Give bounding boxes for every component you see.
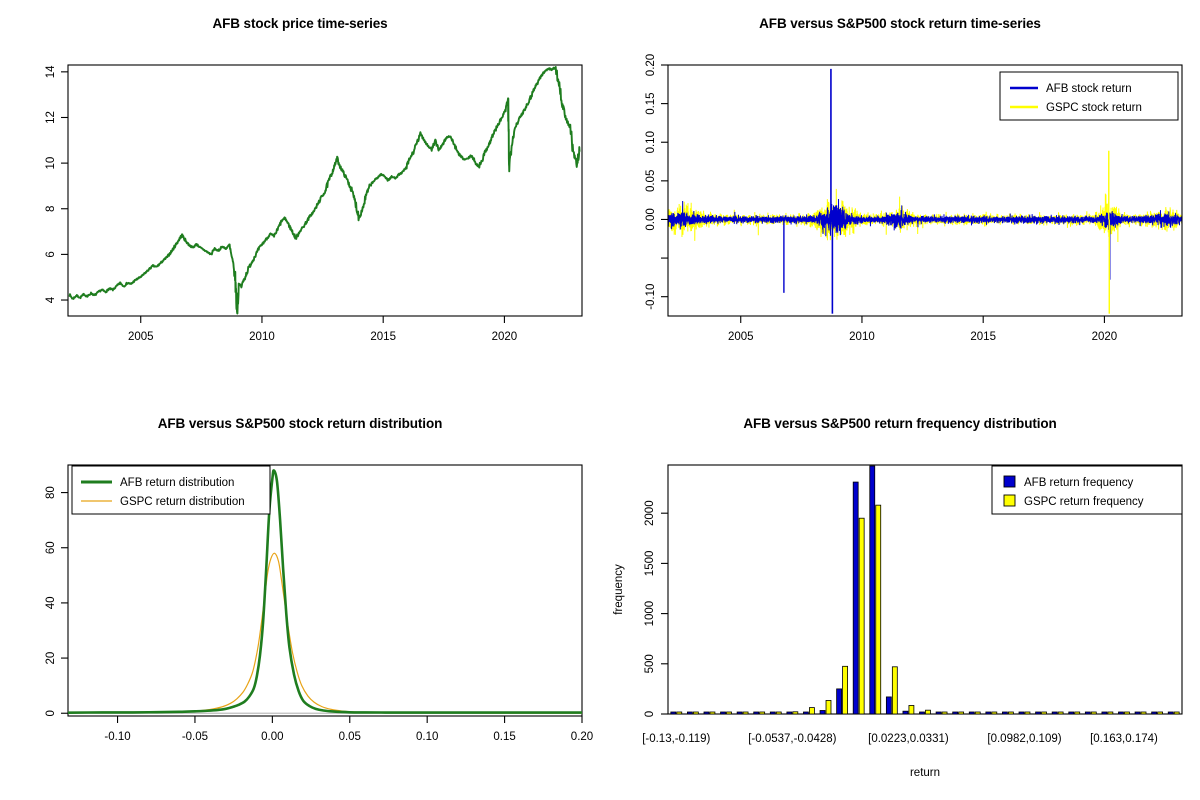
legend-return-distribution: AFB return distributionGSPC return distr… [72, 466, 270, 514]
bar-afb [803, 712, 808, 714]
y-tick-label: 8 [45, 206, 57, 212]
x-tick-label: [0.163,0.174) [1090, 733, 1158, 745]
bar-gspc [710, 712, 715, 714]
x-tick-label: 2005 [128, 331, 154, 343]
x-tick-label: [-0.0537,-0.0428) [748, 733, 836, 745]
y-tick-label: 0.10 [645, 131, 657, 153]
bar-afb [737, 712, 742, 714]
x-tick-label: 2010 [249, 331, 275, 343]
y-tick-label: 6 [45, 251, 57, 257]
bar-afb [820, 710, 825, 714]
x-tick-label: 2010 [849, 331, 875, 343]
bar-gspc [876, 505, 881, 714]
bar-afb [969, 712, 974, 714]
panel-return-distribution: AFB versus S&P500 stock return distribut… [0, 400, 600, 800]
legend-return-timeseries: AFB stock returnGSPC stock return [1000, 72, 1178, 120]
y-tick-label: 0 [644, 711, 656, 717]
bar-gspc [1124, 712, 1129, 714]
y-tick-label: 0.05 [645, 170, 657, 192]
y-tick-label: 40 [45, 597, 57, 610]
legend-label-1: GSPC stock return [1046, 102, 1142, 114]
x-tick-label: [0.0223,0.0331) [868, 733, 949, 745]
bar-afb [1152, 712, 1157, 714]
x-tick-label: 0.20 [571, 731, 593, 743]
bar-gspc [727, 712, 732, 714]
bar-gspc [859, 518, 864, 714]
y-tick-label: 0.20 [645, 54, 657, 76]
bar-gspc [1058, 712, 1063, 714]
x-tick-label: 2015 [370, 331, 396, 343]
bar-gspc [1174, 712, 1179, 714]
legend-label-1: GSPC return distribution [120, 496, 245, 508]
y-tick-label: 4 [45, 296, 57, 303]
gspc-density-curve [68, 553, 582, 713]
y-tick-label: 10 [45, 157, 57, 170]
bar-afb [704, 712, 709, 714]
legend-swatch-1 [1004, 495, 1015, 506]
y-tick-label: -0.10 [645, 284, 657, 310]
legend-label-0: AFB return frequency [1024, 477, 1134, 489]
x-tick-label: [-0.13,-0.119) [642, 733, 710, 745]
y-axis-title: frequency [613, 564, 625, 615]
x-tick-label: -0.05 [182, 731, 208, 743]
x-tick-label: 2020 [1092, 331, 1118, 343]
bar-gspc [942, 712, 947, 714]
bar-afb [1168, 712, 1173, 714]
bar-gspc [1008, 712, 1013, 714]
bar-afb [920, 712, 925, 714]
bar-afb [1002, 712, 1007, 714]
bar-gspc [677, 712, 682, 714]
bar-gspc [1141, 712, 1146, 714]
bar-gspc [892, 667, 897, 714]
y-tick-label: 60 [45, 541, 57, 554]
y-tick-label: 0.15 [645, 92, 657, 114]
legend-label-0: AFB return distribution [120, 477, 234, 489]
return-timeseries-svg: 2005201020152020-0.100.000.050.100.150.2… [600, 0, 1200, 400]
y-tick-label: 14 [45, 65, 57, 78]
legend-label-0: AFB stock return [1046, 83, 1132, 95]
x-tick-label: 2015 [970, 331, 996, 343]
bar-afb [687, 712, 692, 714]
y-tick-label: 80 [45, 486, 57, 499]
x-axis-title: return [910, 767, 940, 779]
price-line-afb [69, 67, 579, 314]
bar-gspc [776, 712, 781, 714]
bar-afb [671, 712, 676, 714]
bar-gspc [693, 712, 698, 714]
bar-gspc [1108, 712, 1113, 714]
x-tick-label: 0.00 [261, 731, 283, 743]
y-tick-label: 20 [45, 652, 57, 665]
bar-afb [787, 712, 792, 714]
bar-afb [1019, 712, 1024, 714]
bar-gspc [760, 712, 765, 714]
afb-price-svg: 2005201020152020468101214 [0, 0, 600, 400]
bar-gspc [959, 712, 964, 714]
bar-afb [1036, 712, 1041, 714]
return-distribution-svg: -0.10-0.050.000.050.100.150.20020406080 … [0, 400, 600, 800]
bar-afb [1085, 712, 1090, 714]
bar-afb [853, 482, 858, 714]
bar-afb [1135, 712, 1140, 714]
legend-swatch-0 [1004, 476, 1015, 487]
panel-afb-stock-price: AFB stock price time-series 200520102015… [0, 0, 600, 400]
y-tick-label: 1500 [644, 551, 656, 577]
bar-gspc [992, 712, 997, 714]
bar-gspc [975, 712, 980, 714]
bar-afb [1052, 712, 1057, 714]
bar-afb [886, 697, 891, 714]
bar-afb [936, 712, 941, 714]
legend-return-frequency: AFB return frequencyGSPC return frequenc… [992, 466, 1182, 514]
bar-gspc [1025, 712, 1030, 714]
panel-return-frequency: AFB versus S&P500 return frequency distr… [600, 400, 1200, 800]
bar-afb [870, 466, 875, 714]
y-tick-label: 1000 [644, 601, 656, 627]
y-tick-label: 12 [45, 111, 57, 124]
bar-afb [837, 689, 842, 714]
bar-gspc [826, 700, 831, 714]
bar-gspc [809, 708, 814, 714]
bar-afb [903, 711, 908, 714]
bar-afb [1118, 712, 1123, 714]
x-tick-label: [0.0982,0.109) [987, 733, 1061, 745]
bar-afb [754, 712, 759, 714]
y-tick-label: 2000 [644, 500, 656, 526]
x-tick-label: 2020 [492, 331, 518, 343]
x-tick-label: 0.15 [493, 731, 515, 743]
y-tick-label: 0 [45, 710, 57, 716]
bar-gspc [1091, 712, 1096, 714]
y-tick-label: 500 [644, 654, 656, 673]
bar-afb [986, 712, 991, 714]
x-tick-label: 0.10 [416, 731, 438, 743]
bar-gspc [909, 705, 914, 714]
x-tick-label: 0.05 [339, 731, 361, 743]
bar-afb [953, 712, 958, 714]
y-tick-label: 0.00 [645, 208, 657, 230]
bar-gspc [1158, 712, 1163, 714]
bar-gspc [793, 712, 798, 714]
x-tick-label: 2005 [728, 331, 754, 343]
bar-afb [770, 712, 775, 714]
bar-gspc [843, 666, 848, 714]
bar-afb [721, 712, 726, 714]
bar-afb [1069, 712, 1074, 714]
bar-gspc [1075, 712, 1080, 714]
legend-label-1: GSPC return frequency [1024, 496, 1144, 508]
bar-afb [1102, 712, 1107, 714]
bar-gspc [743, 712, 748, 714]
return-frequency-svg: 0500100015002000frequency[-0.13,-0.119)[… [600, 400, 1200, 800]
panel-return-timeseries: AFB versus S&P500 stock return time-seri… [600, 0, 1200, 400]
plot-grid: AFB stock price time-series 200520102015… [0, 0, 1200, 800]
bar-gspc [1042, 712, 1047, 714]
bar-gspc [926, 710, 931, 714]
x-tick-label: -0.10 [104, 731, 130, 743]
